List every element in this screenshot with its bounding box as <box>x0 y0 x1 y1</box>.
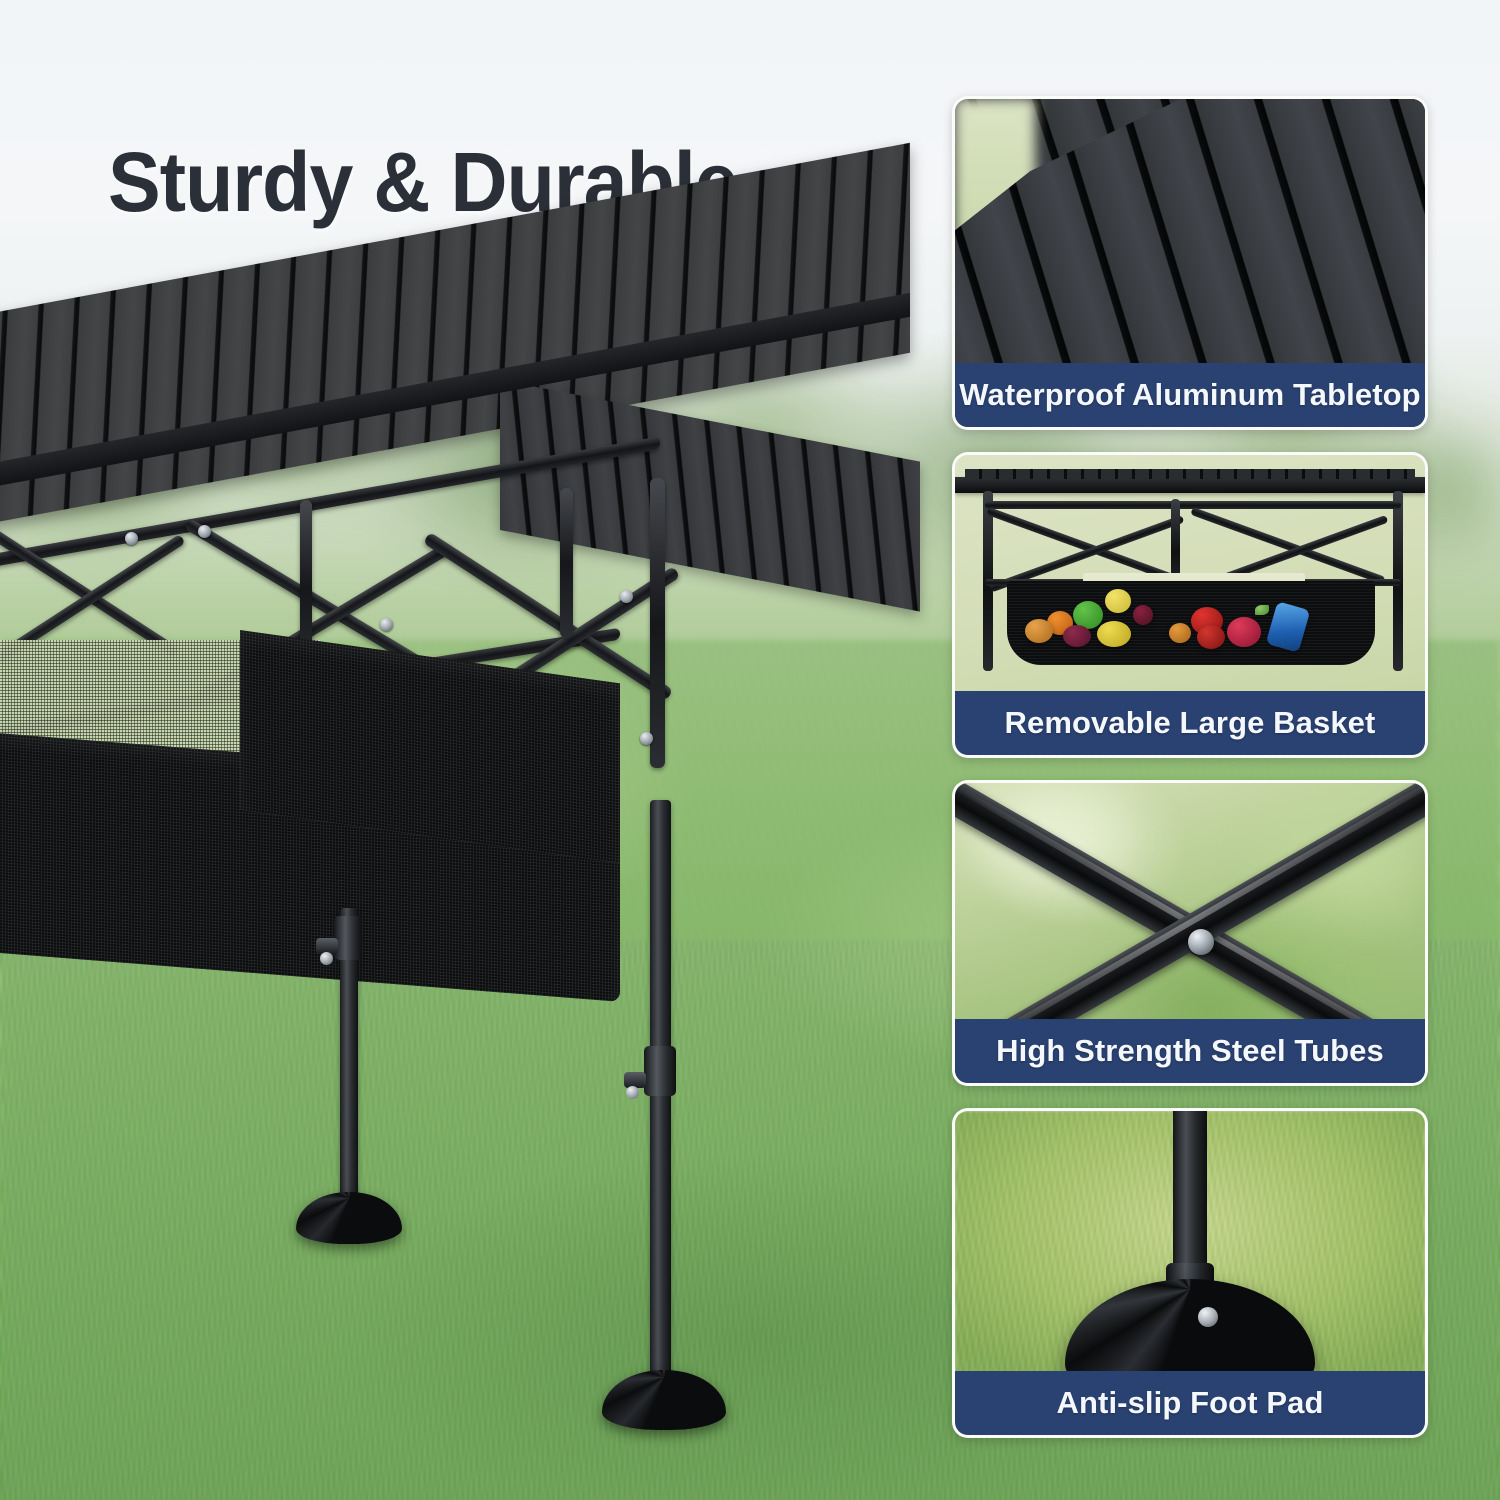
feature-panel-waterproof-aluminum-tabletop[interactable]: Waterproof Aluminum Tabletop <box>952 96 1428 430</box>
frame-rivet <box>640 732 653 745</box>
frame-rivet <box>620 590 633 603</box>
leaf <box>1255 605 1269 615</box>
frame-rivet <box>380 618 393 631</box>
feature-caption: High Strength Steel Tubes <box>955 1019 1425 1083</box>
fruit-item <box>1133 605 1153 625</box>
fruit-item <box>1097 621 1131 647</box>
feature-caption: Waterproof Aluminum Tabletop <box>955 363 1425 427</box>
feature-caption: Removable Large Basket <box>955 691 1425 755</box>
frame-post <box>560 488 573 638</box>
leg-lock-pin[interactable] <box>320 952 333 965</box>
fruit-item <box>1105 589 1131 613</box>
frame-rivet <box>198 525 211 538</box>
fruit-item <box>1063 625 1091 647</box>
corner-post <box>650 478 665 768</box>
feature-panel-high-strength-steel-tubes[interactable]: High Strength Steel Tubes <box>952 780 1428 1086</box>
table-leg-pole <box>1173 1108 1207 1277</box>
leg-collar <box>334 916 362 960</box>
tabletop-slat-edges <box>965 469 1415 479</box>
main-product-photo <box>0 330 960 1500</box>
leg-collar <box>644 1046 676 1096</box>
foot-pad-rivet <box>1198 1307 1218 1327</box>
feature-panel-anti-slip-foot-pad[interactable]: Anti-slip Foot Pad <box>952 1108 1428 1438</box>
anti-slip-foot <box>602 1370 726 1430</box>
frame-rivet <box>125 532 138 545</box>
cross-rivet <box>1188 929 1214 955</box>
tabletop-underside <box>955 477 1425 493</box>
feature-panel-list: Waterproof Aluminum Tabletop <box>952 96 1428 1438</box>
fruit-item <box>1227 617 1261 647</box>
leg-lock-pin[interactable] <box>626 1086 639 1099</box>
feature-panel-removable-large-basket[interactable]: Removable Large Basket <box>952 452 1428 758</box>
feature-caption: Anti-slip Foot Pad <box>955 1371 1425 1435</box>
fruit-item <box>1197 625 1225 649</box>
anti-slip-foot <box>296 1192 402 1244</box>
infographic-canvas: Sturdy & Durable <box>0 0 1500 1500</box>
fruit-item <box>1025 619 1053 643</box>
fruit-item <box>1169 623 1191 643</box>
